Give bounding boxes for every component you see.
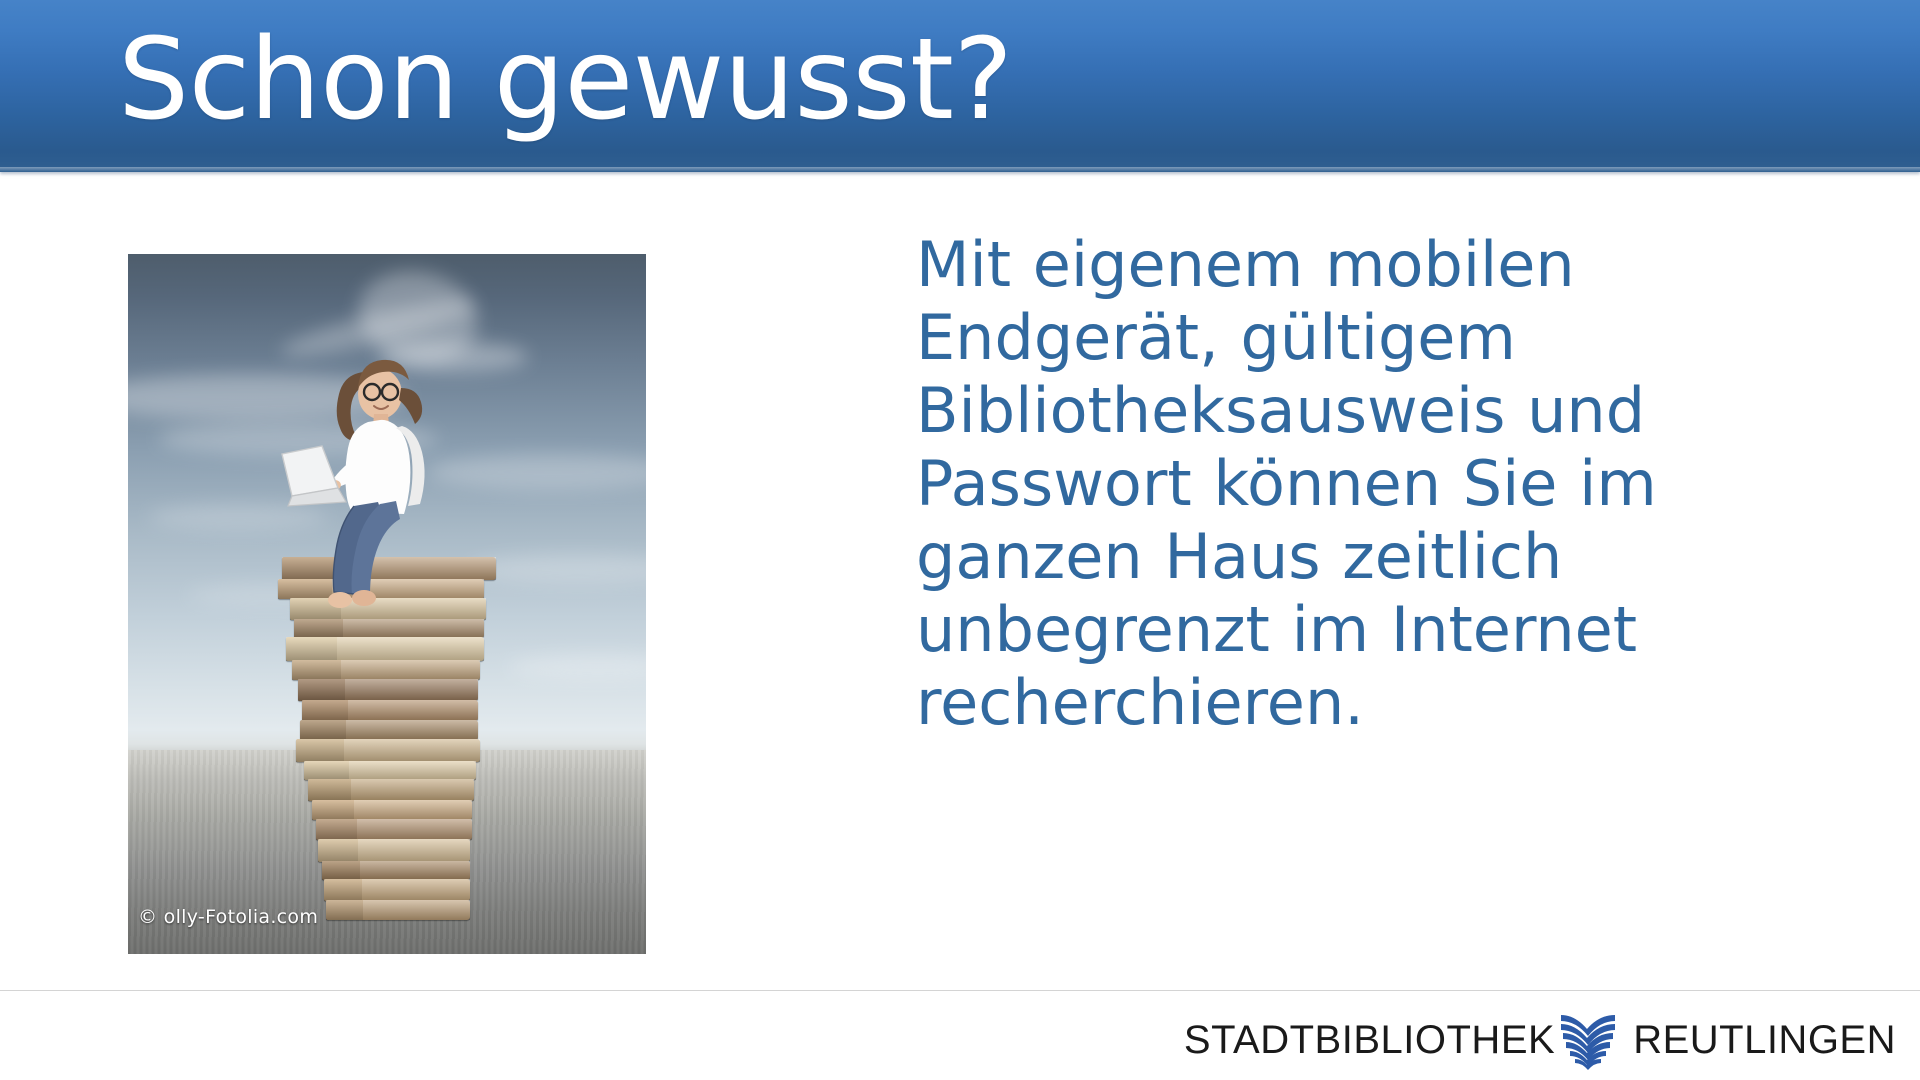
content-photo: © olly-Fotolia.com — [128, 254, 646, 954]
book-item — [324, 879, 470, 901]
book-item — [322, 861, 470, 880]
book-item — [326, 900, 470, 920]
book-item — [300, 720, 478, 740]
book-item — [316, 819, 472, 840]
book-item — [304, 761, 476, 780]
logo-text-stadtbibliothek: STADTBIBLIOTHEK — [1184, 1020, 1555, 1060]
library-logo: STADTBIBLIOTHEK REUTLINGEN — [1184, 1008, 1896, 1072]
book-item — [292, 660, 480, 680]
footer-divider — [0, 990, 1920, 991]
book-item — [298, 679, 478, 701]
book-item — [302, 700, 478, 721]
slide-title: Schon gewusst? — [118, 22, 1012, 140]
book-item — [312, 800, 472, 820]
person-with-laptop-illustration — [268, 346, 468, 646]
logo-text-reutlingen: REUTLINGEN — [1633, 1020, 1896, 1060]
open-book-icon — [1557, 1009, 1619, 1071]
book-item — [318, 839, 470, 862]
book-item — [296, 739, 480, 762]
photo-credit-watermark: © olly-Fotolia.com — [138, 906, 318, 928]
slide-body-text: Mit eigenem mobilen Endgerät, gültigem B… — [916, 228, 1856, 739]
presentation-slide: Schon gewusst? — [0, 0, 1920, 1080]
book-item — [308, 779, 474, 801]
slide-header-banner: Schon gewusst? — [0, 0, 1920, 172]
